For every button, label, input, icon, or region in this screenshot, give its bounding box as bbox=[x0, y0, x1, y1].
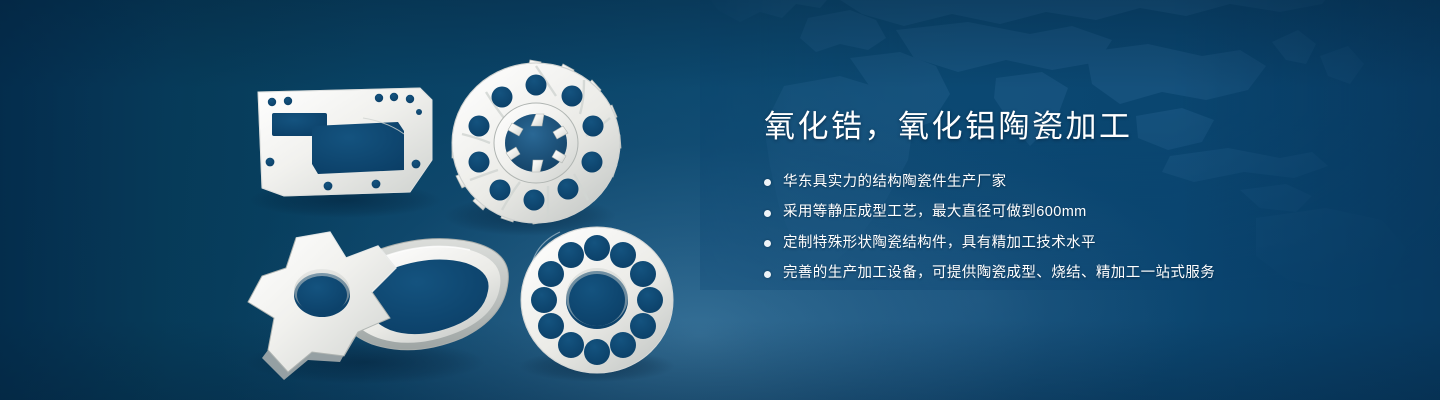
list-item: 采用等静压成型工艺，最大直径可做到600mm bbox=[764, 203, 1384, 223]
product-photo-group bbox=[0, 0, 760, 400]
feature-text: 定制特殊形状陶瓷结构件，具有精加工技术水平 bbox=[783, 234, 1096, 254]
ceramic-mounting-plate bbox=[258, 88, 432, 196]
feature-text: 完善的生产加工设备，可提供陶瓷成型、烧结、精加工一站式服务 bbox=[783, 264, 1215, 284]
bullet-dot-icon bbox=[764, 179, 771, 186]
feature-text: 采用等静压成型工艺，最大直径可做到600mm bbox=[783, 203, 1087, 223]
feature-text: 华东具实力的结构陶瓷件生产厂家 bbox=[783, 173, 1007, 193]
bullet-dot-icon bbox=[764, 240, 771, 247]
banner-copy: 氧化锆，氧化铝陶瓷加工 华东具实力的结构陶瓷件生产厂家 采用等静压成型工艺，最大… bbox=[764, 108, 1384, 284]
ceramic-impeller-disc bbox=[452, 60, 621, 224]
bullet-dot-icon bbox=[764, 210, 771, 217]
banner-headline: 氧化锆，氧化铝陶瓷加工 bbox=[764, 108, 1384, 147]
ceramic-perforated-ring bbox=[521, 227, 673, 373]
hero-banner: 氧化锆，氧化铝陶瓷加工 华东具实力的结构陶瓷件生产厂家 采用等静压成型工艺，最大… bbox=[0, 0, 1440, 400]
list-item: 完善的生产加工设备，可提供陶瓷成型、烧结、精加工一站式服务 bbox=[764, 264, 1384, 284]
list-item: 定制特殊形状陶瓷结构件，具有精加工技术水平 bbox=[764, 234, 1384, 254]
feature-list: 华东具实力的结构陶瓷件生产厂家 采用等静压成型工艺，最大直径可做到600mm 定… bbox=[764, 173, 1384, 284]
list-item: 华东具实力的结构陶瓷件生产厂家 bbox=[764, 173, 1384, 193]
bullet-dot-icon bbox=[764, 271, 771, 278]
